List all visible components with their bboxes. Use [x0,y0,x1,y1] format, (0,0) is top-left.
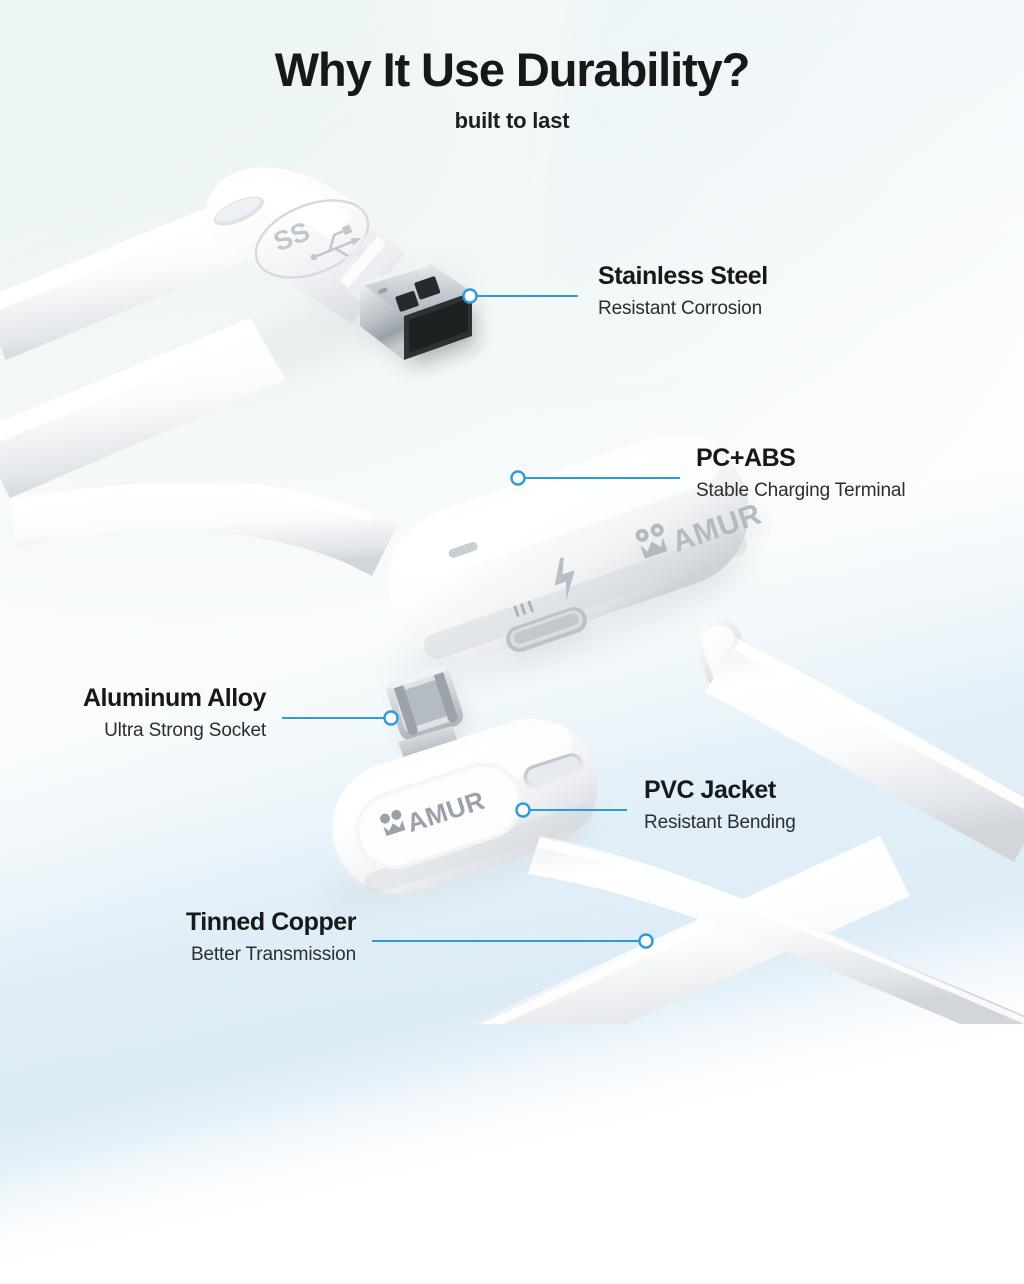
callout-subtitle: Resistant Corrosion [598,298,768,320]
callout-subtitle: Better Transmission [186,944,356,966]
cable-segment-second-left [0,318,286,498]
callout-subtitle: Ultra Strong Socket [83,720,266,742]
callout-title: Aluminum Alloy [83,684,266,712]
callout-pc-abs: PC+ABS Stable Charging Terminal [696,444,905,502]
callout-tinned-copper: Tinned Copper Better Transmission [186,908,356,966]
callout-subtitle: Resistant Bending [644,812,796,834]
page-subtitle: built to last [0,108,1024,134]
product-illustration: SS [0,0,1024,1024]
callout-title: Stainless Steel [598,262,768,290]
callout-stainless-steel: Stainless Steel Resistant Corrosion [598,262,768,320]
infographic-canvas: Why It Use Durability? built to last [0,0,1024,1024]
callout-aluminum-alloy: Aluminum Alloy Ultra Strong Socket [83,684,266,742]
callout-subtitle: Stable Charging Terminal [696,480,905,502]
callout-title: PVC Jacket [644,776,796,804]
callout-title: PC+ABS [696,444,905,472]
page-title: Why It Use Durability? [0,46,1024,95]
callout-pvc-jacket: PVC Jacket Resistant Bending [644,776,796,834]
header: Why It Use Durability? built to last [0,46,1024,134]
callout-title: Tinned Copper [186,908,356,936]
cable-into-module [0,472,398,576]
